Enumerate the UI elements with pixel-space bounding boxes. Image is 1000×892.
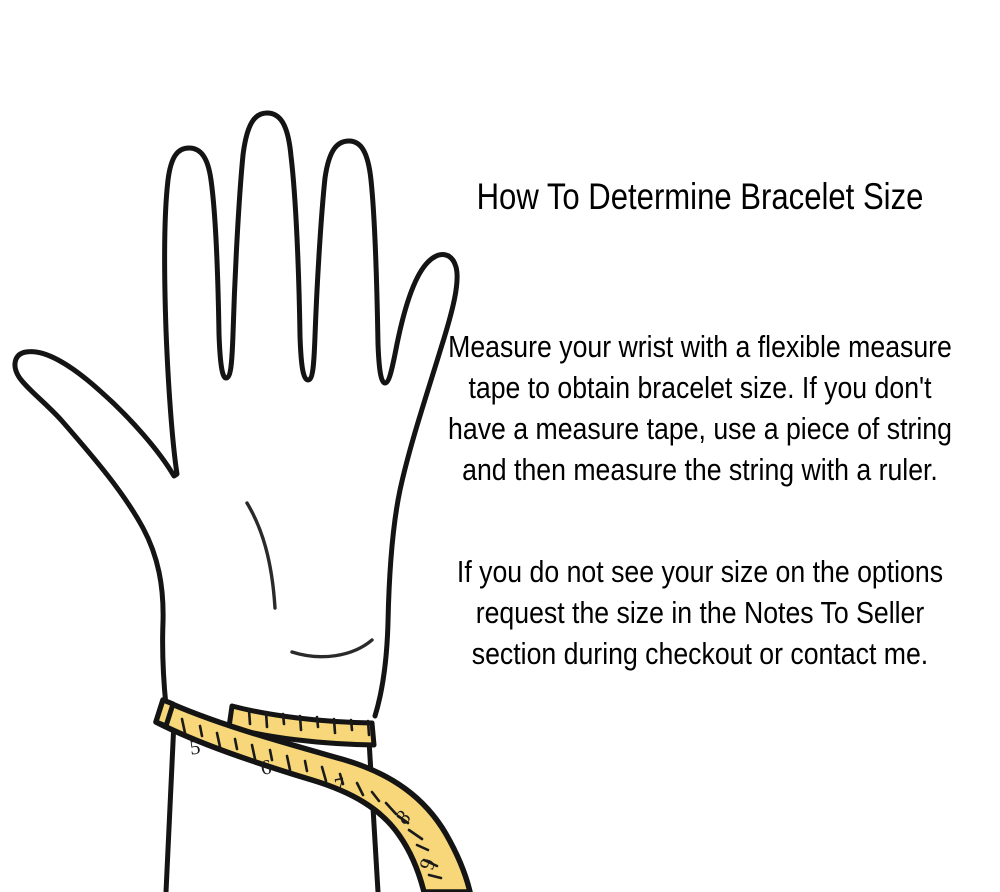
hand-silhouette-path — [15, 113, 457, 716]
instruction-paragraph-notes-to-seller: If you do not see your size on the optio… — [442, 552, 958, 675]
hand-outline — [15, 113, 457, 716]
page-title: How To Determine Bracelet Size — [448, 178, 952, 217]
bracelet-size-infographic: 5 6 7 8 9 How To Determine Bracelet Size… — [0, 0, 1000, 892]
instruction-paragraph-measure: Measure your wrist with a flexible measu… — [442, 327, 958, 491]
text-column: How To Determine Bracelet Size Measure y… — [400, 178, 1000, 706]
